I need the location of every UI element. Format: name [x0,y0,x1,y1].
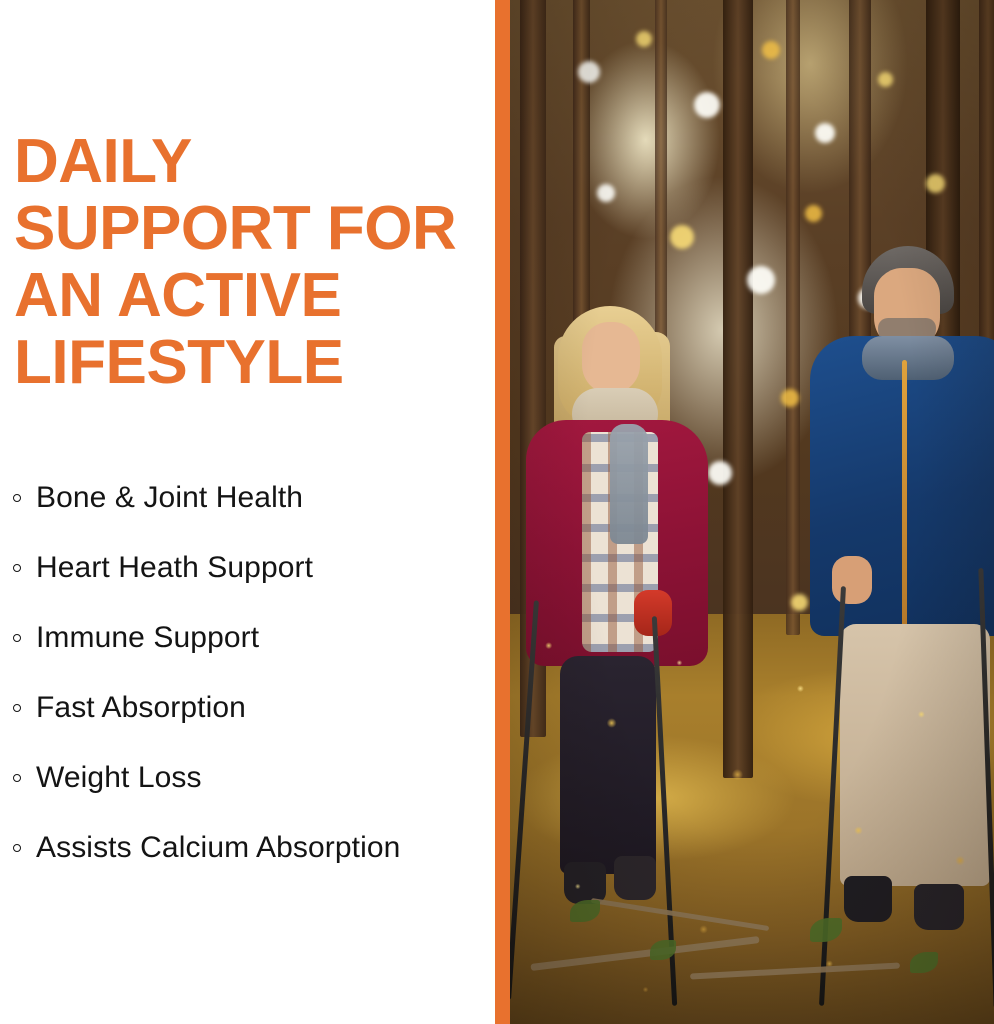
tree-trunk [786,0,800,635]
woman-grey-vest [610,424,648,544]
list-item: Assists Calcium Absorption [8,813,488,883]
bokeh-highlight [762,41,780,59]
text-panel: DAILY SUPPORT FOR AN ACTIVE LIFESTYLE Bo… [0,0,495,1024]
bokeh-highlight [815,123,835,143]
bokeh-highlight [878,72,893,87]
list-item: Heart Heath Support [8,533,488,603]
benefit-label: Immune Support [36,621,259,655]
headline-line-4: LIFESTYLE [14,329,484,396]
benefits-list: Bone & Joint Health Heart Heath Support … [8,463,488,883]
list-item: Fast Absorption [8,673,488,743]
bokeh-highlight [636,31,652,47]
bullet-circle-icon [13,774,21,782]
list-item: Weight Loss [8,743,488,813]
bullet-circle-icon [13,494,21,502]
bullet-circle-icon [13,704,21,712]
headline-line-2: SUPPORT FOR [14,195,484,262]
benefit-label: Bone & Joint Health [36,481,303,515]
benefit-label: Assists Calcium Absorption [36,831,400,865]
bullet-circle-icon [13,634,21,642]
lifestyle-photo [510,0,994,1024]
man-jacket-zipper [902,360,907,628]
bokeh-highlight [805,205,822,222]
page-title: DAILY SUPPORT FOR AN ACTIVE LIFESTYLE [14,128,484,396]
benefit-label: Weight Loss [36,761,202,795]
bokeh-highlight [694,92,720,118]
headline-line-3: AN ACTIVE [14,262,484,329]
list-item: Immune Support [8,603,488,673]
product-benefits-banner: DAILY SUPPORT FOR AN ACTIVE LIFESTYLE Bo… [0,0,994,1024]
woman-face [582,322,640,394]
bullet-circle-icon [13,844,21,852]
headline-line-1: DAILY [14,128,484,195]
list-item: Bone & Joint Health [8,463,488,533]
orange-divider-bar [495,0,510,1024]
bokeh-highlight [670,225,694,249]
benefit-label: Heart Heath Support [36,551,313,585]
forest-scene [510,0,994,1024]
man-jacket-collar [862,336,954,380]
benefit-label: Fast Absorption [36,691,246,725]
bullet-circle-icon [13,564,21,572]
